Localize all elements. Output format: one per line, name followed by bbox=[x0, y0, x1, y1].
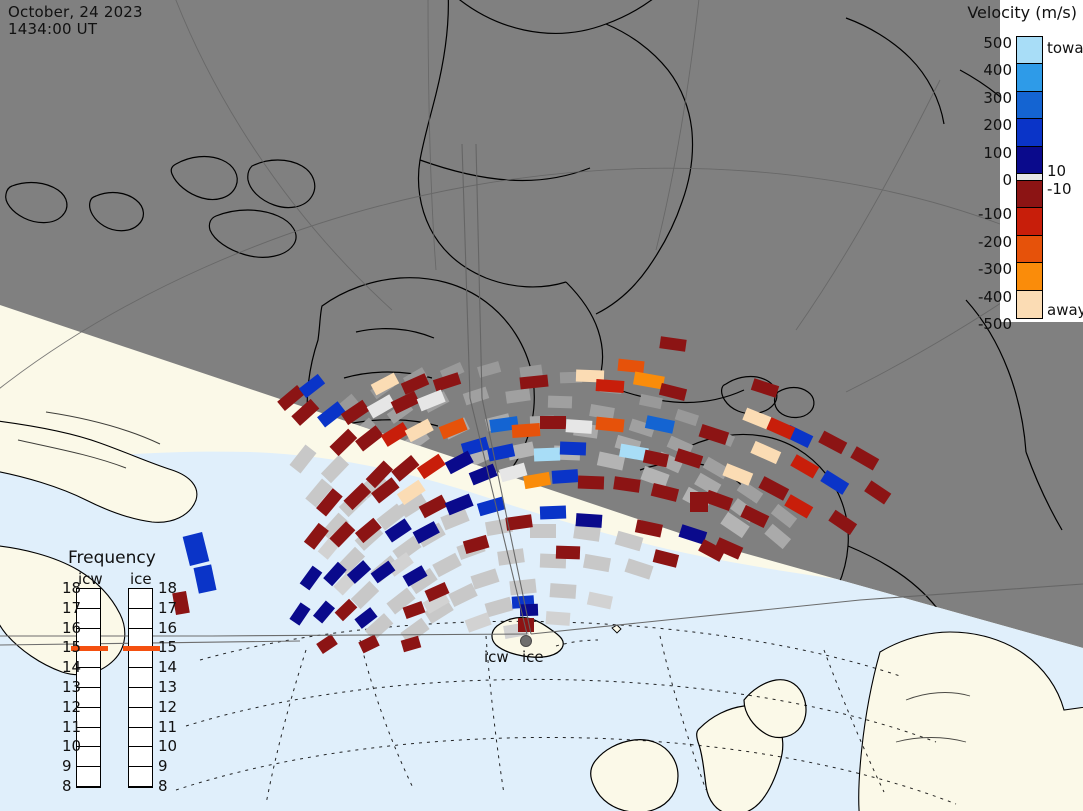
colorbar-negative-threshold: -10 bbox=[1047, 182, 1072, 197]
colorbar-segment bbox=[1017, 291, 1042, 318]
colorbar-segment bbox=[1017, 37, 1042, 64]
colorbar-segment bbox=[1017, 181, 1042, 208]
frequency-scale-label: 10 bbox=[62, 739, 70, 754]
colorbar-segment bbox=[1017, 147, 1042, 174]
frequency-scale-label: 8 bbox=[158, 779, 188, 794]
colorbar-tick: -500 bbox=[978, 317, 1012, 332]
frequency-scale-label: 17 bbox=[158, 601, 188, 616]
timestamp-date: October, 24 2023 bbox=[8, 3, 143, 21]
radar-map-view: October, 24 20231434:00 UT icw ice Veloc… bbox=[0, 0, 1083, 811]
colorbar-segment bbox=[1017, 208, 1042, 235]
frequency-scale-label: 16 bbox=[62, 621, 70, 636]
frequency-scale-label: 14 bbox=[62, 660, 70, 675]
colorbar-tick: 300 bbox=[983, 91, 1012, 106]
frequency-title: Frequency bbox=[68, 548, 156, 568]
timestamp-time: 1434:00 UT bbox=[8, 20, 97, 38]
colorbar-tick: 500 bbox=[983, 36, 1012, 51]
colorbar-toward-label: toward bbox=[1047, 41, 1083, 56]
colorbar-segment bbox=[1017, 119, 1042, 146]
colorbar-tick: -200 bbox=[978, 235, 1012, 250]
frequency-row bbox=[129, 688, 152, 708]
colorbar-tick: -400 bbox=[978, 290, 1012, 305]
frequency-scale-label: 18 bbox=[158, 581, 188, 596]
frequency-legend: Frequency icw ice 18171615141312111098 1… bbox=[62, 548, 232, 788]
colorbar-tick: 100 bbox=[983, 146, 1012, 161]
colorbar-segment bbox=[1017, 263, 1042, 290]
site-label-icw: icw bbox=[484, 648, 509, 666]
colorbar-tick: 0 bbox=[1002, 173, 1012, 188]
frequency-row bbox=[129, 728, 152, 748]
timestamp: October, 24 20231434:00 UT bbox=[8, 4, 143, 38]
colorbar-away-label: away bbox=[1047, 303, 1083, 318]
velocity-colorbar[interactable] bbox=[1016, 36, 1043, 319]
frequency-scale-label: 13 bbox=[62, 680, 70, 695]
radar-site-marker bbox=[521, 636, 532, 647]
frequency-marker bbox=[123, 646, 160, 651]
frequency-scale-label: 15 bbox=[62, 640, 70, 655]
frequency-scale-label: 17 bbox=[62, 601, 70, 616]
colorbar-tick-labels: 5004003002001000-100-200-300-400-500 bbox=[940, 30, 1012, 325]
colorbar-positive-threshold: 10 bbox=[1047, 164, 1066, 179]
frequency-scale-label: 8 bbox=[62, 779, 70, 794]
colorbar-tick: 400 bbox=[983, 63, 1012, 78]
frequency-scale-label: 16 bbox=[158, 621, 188, 636]
colorbar-tick: 200 bbox=[983, 118, 1012, 133]
colorbar-segment bbox=[1017, 174, 1042, 181]
colorbar-tick: -300 bbox=[978, 262, 1012, 277]
frequency-column-ice-label: ice bbox=[130, 570, 152, 588]
colorbar-title: Velocity (m/s) bbox=[887, 3, 1077, 22]
frequency-bar-ice[interactable] bbox=[128, 588, 153, 788]
frequency-scale-label: 14 bbox=[158, 660, 188, 675]
frequency-scale-label: 10 bbox=[158, 739, 188, 754]
frequency-scale-label: 11 bbox=[62, 720, 70, 735]
frequency-scale-label: 13 bbox=[158, 680, 188, 695]
frequency-scale-label: 18 bbox=[62, 581, 70, 596]
frequency-scale-label: 11 bbox=[158, 720, 188, 735]
colorbar-segment bbox=[1017, 92, 1042, 119]
frequency-row bbox=[129, 609, 152, 629]
frequency-scale-label: 9 bbox=[62, 759, 70, 774]
colorbar-segment bbox=[1017, 64, 1042, 91]
frequency-scale-label: 12 bbox=[62, 700, 70, 715]
frequency-scale-label: 15 bbox=[158, 640, 188, 655]
frequency-row bbox=[129, 747, 152, 767]
colorbar-segment bbox=[1017, 236, 1042, 263]
frequency-row bbox=[129, 767, 152, 787]
frequency-row bbox=[129, 668, 152, 688]
frequency-row bbox=[77, 767, 100, 787]
frequency-row bbox=[129, 589, 152, 609]
frequency-scale-label: 12 bbox=[158, 700, 188, 715]
site-label-ice: ice bbox=[522, 648, 544, 666]
frequency-column-icw-label: icw bbox=[78, 570, 103, 588]
colorbar-tick: -100 bbox=[978, 207, 1012, 222]
frequency-row bbox=[129, 708, 152, 728]
frequency-scale-label: 9 bbox=[158, 759, 188, 774]
